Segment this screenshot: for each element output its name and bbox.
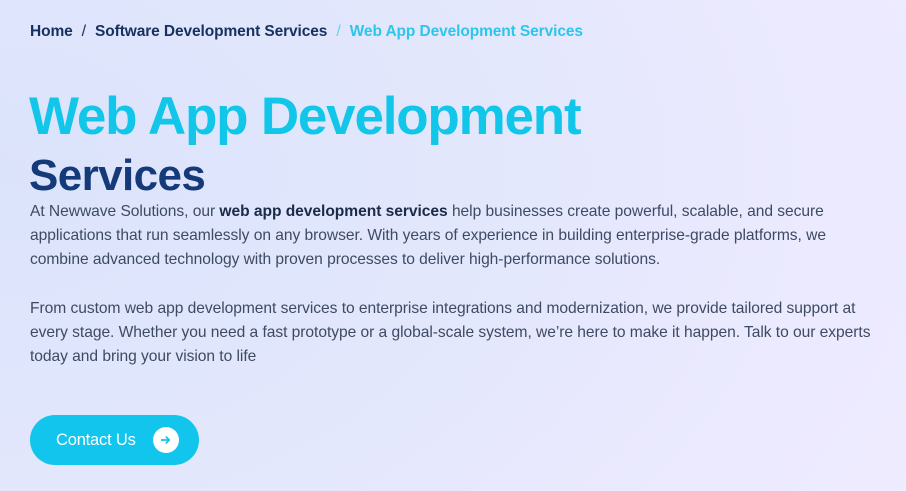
breadcrumb-item-current: Web App Development Services <box>350 23 583 41</box>
hero-paragraph-2: From custom web app development services… <box>30 297 886 369</box>
hero-description: At Newwave Solutions, our web app develo… <box>30 200 886 369</box>
arrow-right-circle-icon <box>153 427 179 453</box>
paragraph-1-emphasis: web app development services <box>219 203 447 220</box>
contact-us-label: Contact Us <box>56 431 136 450</box>
page-title-rest: Services <box>29 149 869 203</box>
breadcrumb: Home / Software Development Services / W… <box>30 23 583 41</box>
breadcrumb-separator: / <box>73 23 95 41</box>
breadcrumb-item-home[interactable]: Home <box>30 23 73 41</box>
page-root: Home / Software Development Services / W… <box>0 0 906 491</box>
contact-us-button[interactable]: Contact Us <box>30 415 199 465</box>
breadcrumb-separator: / <box>327 23 349 41</box>
paragraph-1-lead: At Newwave Solutions, our <box>30 203 219 220</box>
page-title: Web App Development Services <box>29 87 869 203</box>
page-title-accent: Web App Development <box>29 87 869 147</box>
hero-paragraph-1: At Newwave Solutions, our web app develo… <box>30 200 886 272</box>
breadcrumb-item-software-development-services[interactable]: Software Development Services <box>95 23 327 41</box>
